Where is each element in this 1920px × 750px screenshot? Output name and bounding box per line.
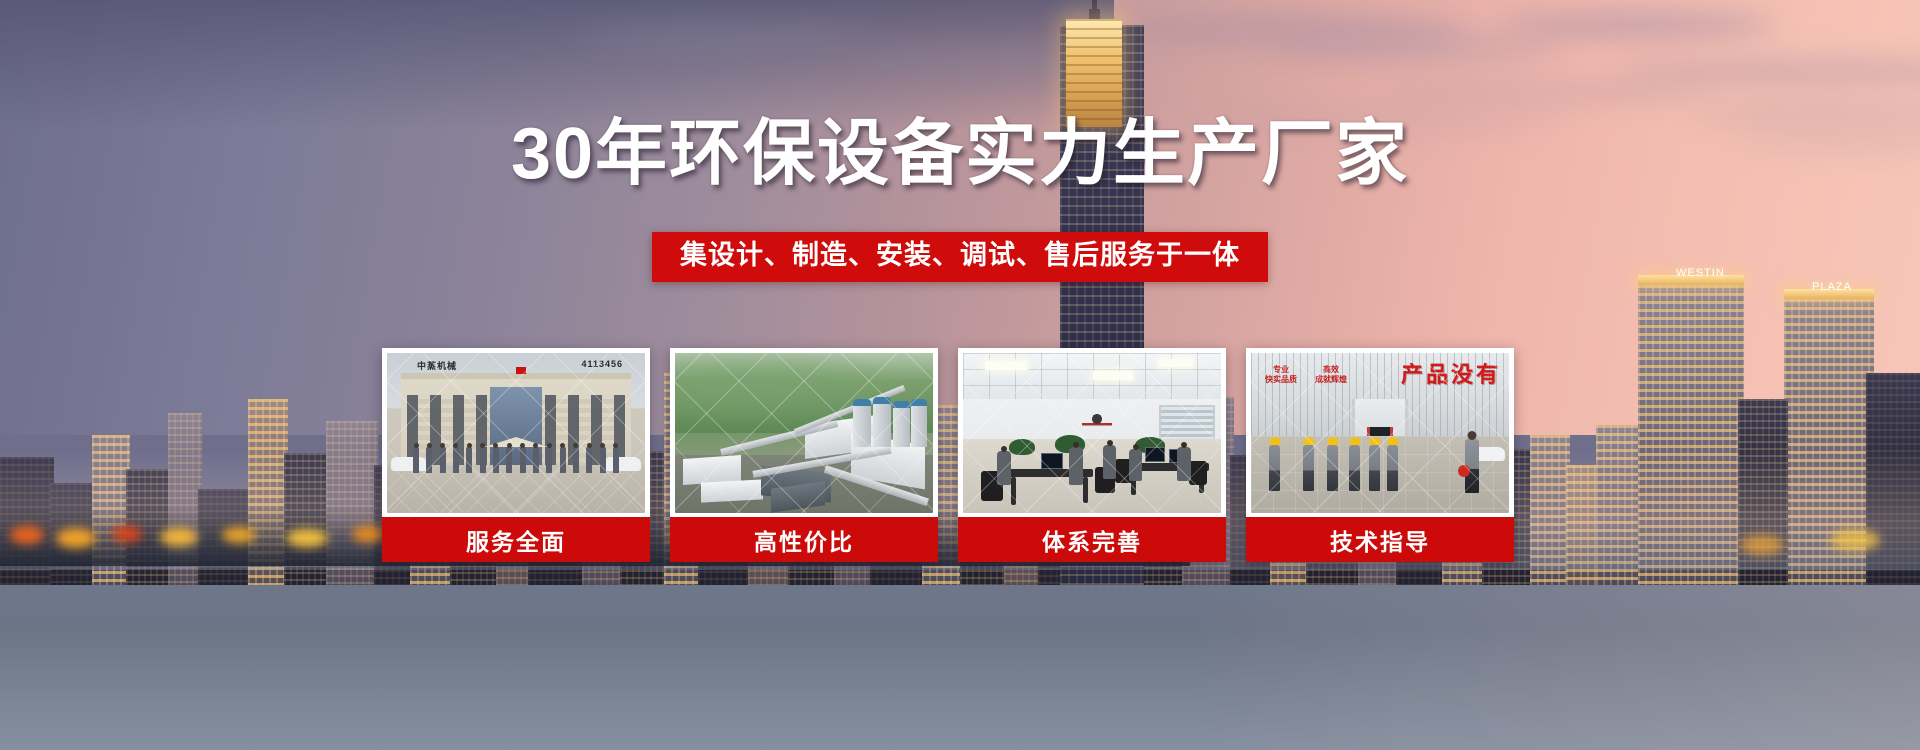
staff-member [546, 447, 552, 473]
workers-factory-photo: 产品没有 专业快实品质 高效成就辉煌 [1251, 353, 1509, 513]
storage-silo [873, 401, 891, 447]
supervisor [1465, 439, 1479, 493]
industrial-plant-aerial-photo [675, 353, 933, 513]
shore-light [160, 528, 198, 546]
card-label-service: 服务全面 [382, 517, 650, 562]
worker [1327, 445, 1338, 491]
staff-member [560, 447, 566, 473]
subtitle-banner: 集设计、制造、安装、调试、售后服务于一体 [652, 232, 1268, 282]
office-worker [1103, 445, 1116, 479]
cloud-streak [1498, 13, 1778, 37]
card-label-value: 高性价比 [670, 517, 938, 562]
worker [1387, 445, 1398, 491]
factory-slogan-small: 高效成就辉煌 [1315, 365, 1347, 384]
building [1596, 425, 1642, 585]
staff-member [440, 447, 446, 473]
storage-silo [853, 403, 871, 447]
office-worker [1177, 447, 1191, 481]
office-worker [997, 451, 1011, 485]
worker [1349, 445, 1360, 491]
worker [1303, 445, 1314, 491]
desk-leg [1083, 477, 1088, 503]
shore-light [1740, 535, 1784, 555]
hard-hat-icon [1303, 437, 1314, 445]
shore-light [10, 526, 44, 544]
office-interior-photo [963, 353, 1221, 513]
worker [1269, 445, 1280, 491]
staff-member [600, 447, 606, 473]
staff-member [413, 447, 419, 473]
ceiling-light [1159, 359, 1193, 367]
cloud-streak [1382, 83, 1712, 101]
storage-silo [893, 405, 910, 447]
shore-light [112, 526, 142, 542]
staff-member [613, 447, 619, 473]
staff-member [506, 447, 512, 473]
hero-banner: WESTIN PLAZA 30年环保设备实力生产厂家 集设计、制造、安装、调试、… [0, 0, 1920, 750]
building [1566, 465, 1600, 585]
staff-member [573, 447, 579, 473]
feature-card-list: 中蒸机械 4113456 [382, 348, 1514, 562]
building-sign-phone: 4113456 [581, 359, 623, 369]
office-worker [1069, 447, 1083, 485]
westin-sign: WESTIN [1676, 267, 1725, 279]
building [1530, 435, 1570, 585]
worker [1369, 445, 1380, 491]
cloud-streak [576, 26, 876, 48]
cloud-streak [1267, 39, 1567, 59]
supervisor-head [1468, 431, 1477, 440]
hard-hat-icon [1327, 437, 1338, 445]
staff-member [533, 447, 539, 473]
computer-monitor [1041, 453, 1063, 469]
building [1866, 373, 1920, 585]
office-chair [1189, 461, 1207, 485]
factory-slogan-small: 专业快实品质 [1265, 365, 1297, 384]
plaza-sign: PLAZA [1812, 281, 1852, 293]
staff-member [520, 447, 526, 473]
flag-icon [516, 367, 526, 374]
building [1738, 399, 1788, 585]
shore-light [286, 529, 328, 547]
feature-card-service[interactable]: 中蒸机械 4113456 [382, 348, 650, 562]
building-sign-text: 中蒸机械 [417, 359, 457, 372]
shore-light [222, 527, 256, 543]
hard-hat-icon [1349, 437, 1360, 445]
staff-member [493, 447, 499, 473]
potted-plant [1009, 439, 1035, 455]
staff-member [480, 447, 486, 473]
ceiling-light [985, 361, 1027, 370]
staff-member [466, 447, 472, 473]
hard-hat-icon [1269, 437, 1280, 445]
shore-light [56, 528, 96, 548]
hard-hat-icon [1387, 437, 1398, 445]
office-worker [1129, 449, 1142, 481]
feature-card-guidance[interactable]: 产品没有 专业快实品质 高效成就辉煌 技术指导 [1246, 348, 1514, 562]
desk-leg [1011, 477, 1016, 505]
staff-row [413, 447, 619, 475]
feature-card-system[interactable]: 体系完善 [958, 348, 1226, 562]
tower-lit-crown [1066, 19, 1122, 127]
office-building-staff-photo: 中蒸机械 4113456 [387, 353, 645, 513]
red-helmet-icon [1458, 465, 1470, 477]
silo-cap [853, 399, 871, 406]
feature-card-value[interactable]: 高性价比 [670, 348, 938, 562]
staff-member [453, 447, 459, 473]
storage-silo [911, 403, 927, 447]
staff-member [586, 447, 592, 473]
wall-logo-icon [1082, 411, 1112, 431]
silo-cap [893, 401, 910, 408]
factory-slogan-large: 产品没有 [1401, 357, 1501, 389]
plant-shed [701, 479, 763, 502]
card-label-system: 体系完善 [958, 517, 1226, 562]
page-title: 30年环保设备实力生产厂家 [0, 118, 1920, 190]
cloud-streak [1613, 61, 1920, 83]
westin-tower [1638, 285, 1744, 585]
hard-hat-icon [1369, 437, 1380, 445]
silo-cap [873, 397, 891, 404]
card-label-guidance: 技术指导 [1246, 517, 1514, 562]
silo-cap [911, 399, 927, 406]
staff-member [426, 447, 432, 473]
computer-monitor [1145, 447, 1165, 462]
ceiling-light [1093, 371, 1133, 380]
subtitle-text: 集设计、制造、安装、调试、售后服务于一体 [680, 241, 1240, 271]
